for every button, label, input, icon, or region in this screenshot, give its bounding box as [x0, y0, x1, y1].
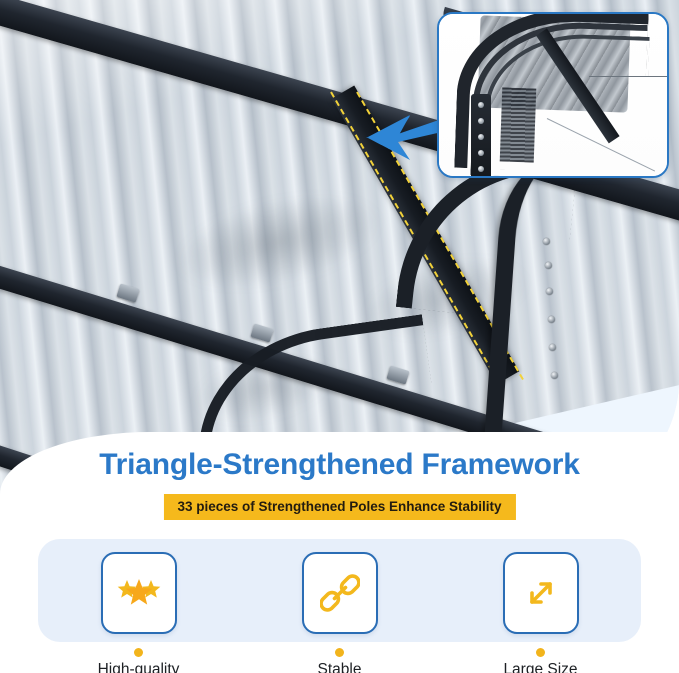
feature-label: Large Size [503, 661, 577, 673]
post-bolt [545, 262, 552, 269]
inset-guide-wire [589, 76, 669, 77]
inset-bolt [478, 118, 484, 124]
product-feature-image: Triangle-Strengthened Framework 33 piece… [0, 0, 679, 673]
feature-item-large-size: Large Size [461, 539, 621, 673]
post-bolt [551, 372, 558, 379]
expand-arrows-icon [521, 573, 561, 613]
post-bolt [549, 344, 556, 351]
chain-link-icon [320, 573, 360, 613]
page-title: Triangle-Strengthened Framework [0, 448, 679, 482]
inset-bolt [478, 166, 484, 172]
feature-label: Stable [318, 661, 362, 673]
content-sheet: Triangle-Strengthened Framework 33 piece… [0, 432, 679, 673]
inset-bolt [478, 102, 484, 108]
feature-list: High-quality Stable [38, 539, 641, 673]
detail-inset-callout [437, 12, 669, 178]
feature-dot [335, 648, 344, 657]
subtitle-banner: 33 pieces of Strengthened Poles Enhance … [163, 494, 515, 520]
hero-photo [0, 0, 679, 500]
post-bolt [548, 316, 555, 323]
inset-bolt [478, 134, 484, 140]
inset-perforated-plate [500, 87, 537, 162]
inset-photo [439, 14, 667, 176]
feature-icon-card [101, 552, 177, 634]
post-bolt [546, 288, 553, 295]
feature-item-high-quality: High-quality [59, 539, 219, 673]
three-stars-icon [116, 576, 162, 610]
post-bolt [543, 238, 550, 245]
inset-bolt [478, 150, 484, 156]
feature-dot [134, 648, 143, 657]
feature-item-stable: Stable [260, 539, 420, 673]
feature-dot [536, 648, 545, 657]
feature-icon-card [302, 552, 378, 634]
feature-icon-card [503, 552, 579, 634]
feature-label: High-quality [98, 661, 180, 673]
